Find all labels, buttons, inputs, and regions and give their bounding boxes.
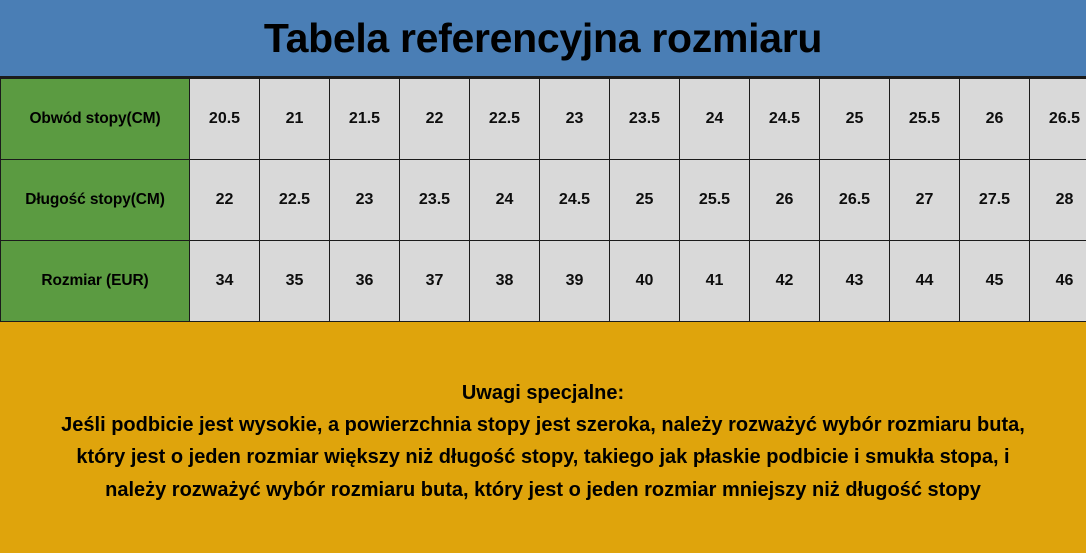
cell-length-4: 23.5 — [400, 160, 470, 241]
cell-eur-4: 37 — [400, 241, 470, 322]
cell-length-12: 27.5 — [960, 160, 1030, 241]
cell-length-2: 22.5 — [260, 160, 330, 241]
notes-line-3: należy rozważyć wybór rozmiaru buta, któ… — [105, 474, 981, 506]
special-notes-section: Uwagi specjalne: Jeśli podbicie jest wys… — [0, 322, 1086, 553]
cell-circumference-11: 25.5 — [890, 79, 960, 160]
size-table-body: Obwód stopy(CM) 20.5 21 21.5 22 22.5 23 … — [1, 79, 1086, 322]
notes-heading: Uwagi specjalne: — [462, 378, 624, 409]
cell-eur-10: 43 — [820, 241, 890, 322]
table-row: Obwód stopy(CM) 20.5 21 21.5 22 22.5 23 … — [1, 79, 1086, 160]
cell-eur-13: 46 — [1030, 241, 1086, 322]
notes-line-1: Jeśli podbicie jest wysokie, a powierzch… — [61, 409, 1025, 441]
cell-length-7: 25 — [610, 160, 680, 241]
notes-line-2: który jest o jeden rozmiar większy niż d… — [76, 441, 1009, 473]
size-chart-page: Tabela referencyjna rozmiaru Obwód stopy… — [0, 0, 1086, 553]
cell-length-11: 27 — [890, 160, 960, 241]
cell-eur-1: 34 — [190, 241, 260, 322]
cell-eur-12: 45 — [960, 241, 1030, 322]
cell-circumference-3: 21.5 — [330, 79, 400, 160]
cell-length-8: 25.5 — [680, 160, 750, 241]
page-title: Tabela referencyjna rozmiaru — [264, 18, 822, 59]
cell-eur-6: 39 — [540, 241, 610, 322]
row-header-foot-circumference: Obwód stopy(CM) — [1, 79, 190, 160]
cell-eur-8: 41 — [680, 241, 750, 322]
cell-circumference-6: 23 — [540, 79, 610, 160]
table-row: Rozmiar (EUR) 34 35 36 37 38 39 40 41 42… — [1, 241, 1086, 322]
cell-length-10: 26.5 — [820, 160, 890, 241]
cell-circumference-10: 25 — [820, 79, 890, 160]
cell-circumference-4: 22 — [400, 79, 470, 160]
cell-eur-7: 40 — [610, 241, 680, 322]
cell-eur-2: 35 — [260, 241, 330, 322]
size-reference-table: Obwód stopy(CM) 20.5 21 21.5 22 22.5 23 … — [0, 78, 1086, 322]
cell-circumference-1: 20.5 — [190, 79, 260, 160]
cell-length-5: 24 — [470, 160, 540, 241]
title-banner: Tabela referencyjna rozmiaru — [0, 0, 1086, 78]
cell-length-3: 23 — [330, 160, 400, 241]
cell-circumference-8: 24 — [680, 79, 750, 160]
cell-length-9: 26 — [750, 160, 820, 241]
cell-circumference-13: 26.5 — [1030, 79, 1086, 160]
cell-eur-5: 38 — [470, 241, 540, 322]
row-header-foot-length: Długość stopy(CM) — [1, 160, 190, 241]
cell-eur-11: 44 — [890, 241, 960, 322]
cell-length-6: 24.5 — [540, 160, 610, 241]
cell-circumference-5: 22.5 — [470, 79, 540, 160]
cell-eur-3: 36 — [330, 241, 400, 322]
cell-circumference-7: 23.5 — [610, 79, 680, 160]
cell-length-13: 28 — [1030, 160, 1086, 241]
cell-length-1: 22 — [190, 160, 260, 241]
cell-circumference-2: 21 — [260, 79, 330, 160]
table-row: Długość stopy(CM) 22 22.5 23 23.5 24 24.… — [1, 160, 1086, 241]
cell-eur-9: 42 — [750, 241, 820, 322]
cell-circumference-12: 26 — [960, 79, 1030, 160]
row-header-eur-size: Rozmiar (EUR) — [1, 241, 190, 322]
cell-circumference-9: 24.5 — [750, 79, 820, 160]
